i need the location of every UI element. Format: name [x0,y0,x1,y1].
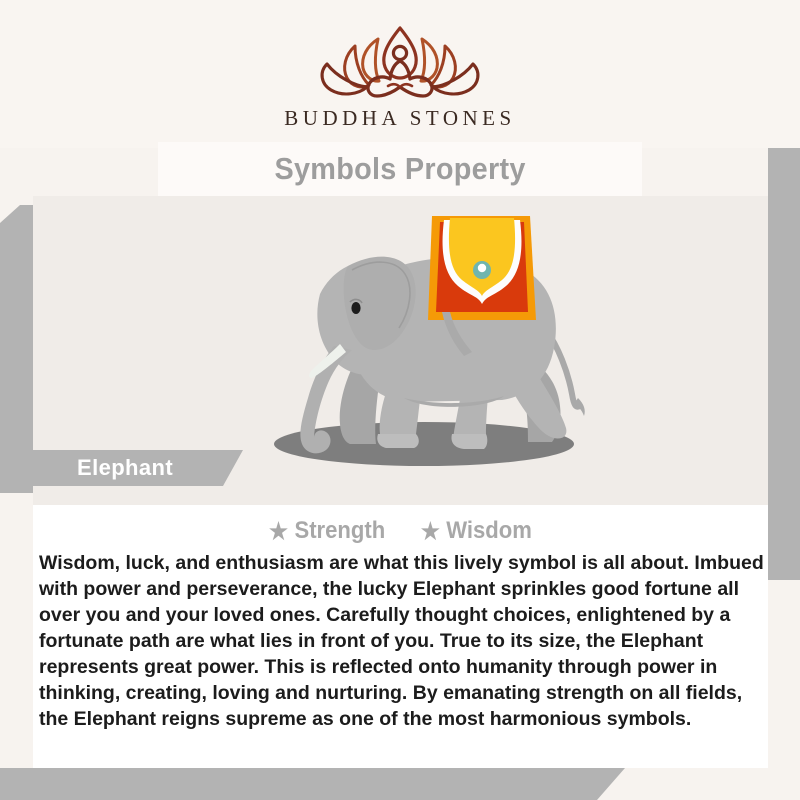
brand-name: BUDDHA STONES [284,106,515,131]
title-band: Symbols Property [158,142,642,196]
trait-label: Wisdom [447,517,533,545]
symbol-description: Wisdom, luck, and enthusiasm are what th… [39,551,764,732]
brand-header: BUDDHA STONES [0,0,800,148]
trait-label: Strength [294,517,385,545]
elephant-eye [351,302,360,314]
trait-strength: ★ Strength [269,517,385,545]
symbol-name-label: Elephant [77,455,173,481]
star-icon: ★ [421,520,440,543]
saddle-jewel-highlight [478,264,486,272]
walking-elephant-icon [228,208,608,488]
decorative-band-left [0,205,33,493]
symbol-property-card: BUDDHA STONES Symbols Property [0,0,800,800]
trait-wisdom: ★ Wisdom [421,517,532,545]
decorative-band-bottom [0,768,625,800]
description-panel: ★ Strength ★ Wisdom Wisdom, luck, and en… [33,505,768,768]
page-title: Symbols Property [274,151,525,187]
star-icon: ★ [269,520,288,543]
lotus-meditation-icon [315,22,485,102]
symbol-name-banner: Elephant [33,450,243,486]
trait-list: ★ Strength ★ Wisdom [33,505,768,545]
